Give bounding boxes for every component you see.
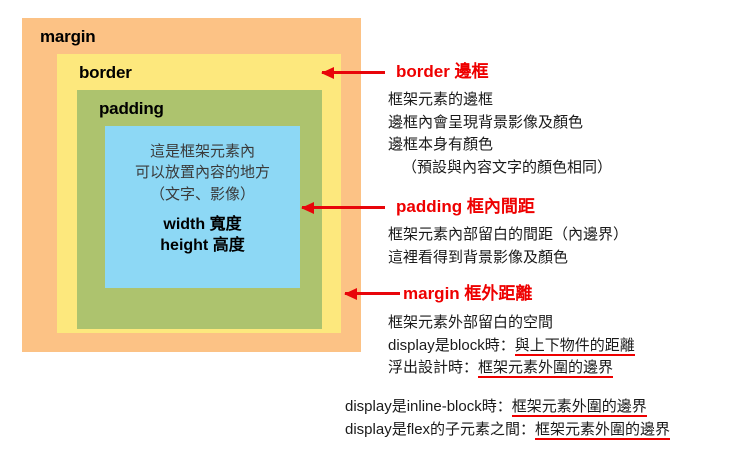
annotation-margin-line-3-prefix: 浮出設計時：: [388, 359, 478, 376]
arrow-left-icon-padding: [302, 206, 385, 209]
annotation-extra-line-1: display是inline-block時：框架元素外圍的邊界: [345, 396, 670, 419]
annotation-border-line-3: 邊框本身有顏色: [388, 134, 612, 157]
content-width-label: width 寬度: [105, 214, 300, 236]
annotation-extra-line-2-emphasis: 框架元素外圍的邊界: [535, 421, 670, 440]
box-model-diagram: margin border padding 這是框架元素內 可以放置內容的地方 …: [22, 18, 361, 352]
annotation-extra-line-1-prefix: display是inline-block時：: [345, 398, 512, 415]
content-text-line-3: （文字、影像）: [105, 184, 300, 205]
content-dimension-group: width 寬度 height 高度: [105, 214, 300, 257]
annotation-margin-line-3: 浮出設計時：框架元素外圍的邊界: [388, 357, 635, 380]
annotation-heading-margin: margin 框外距離: [403, 285, 532, 302]
border-box-label: border: [79, 64, 132, 81]
arrow-left-icon-border: [322, 71, 385, 74]
annotation-margin-line-3-emphasis: 框架元素外圍的邊界: [478, 359, 613, 378]
annotation-body-padding: 框架元素內部留白的間距（內邊界） 這裡看得到背景影像及顏色: [388, 224, 628, 269]
annotation-heading-border: border 邊框: [396, 63, 489, 80]
annotation-margin-line-2-emphasis: 與上下物件的距離: [515, 337, 635, 356]
content-text-line-1: 這是框架元素內: [105, 141, 300, 162]
annotation-body-margin: 框架元素外部留白的空間 display是block時：與上下物件的距離 浮出設計…: [388, 312, 635, 380]
annotation-extra-line-2-prefix: display是flex的子元素之間：: [345, 421, 535, 438]
content-height-label: height 高度: [105, 235, 300, 257]
annotation-body-border: 框架元素的邊框 邊框內會呈現背景影像及顏色 邊框本身有顏色 （預設與內容文字的顏…: [388, 89, 612, 179]
annotation-border-line-1: 框架元素的邊框: [388, 89, 612, 112]
annotation-extra-line-2: display是flex的子元素之間：框架元素外圍的邊界: [345, 419, 670, 442]
padding-box-area: padding 這是框架元素內 可以放置內容的地方 （文字、影像） width …: [77, 90, 322, 329]
annotation-margin-line-1: 框架元素外部留白的空間: [388, 312, 635, 335]
annotation-padding-line-1: 框架元素內部留白的間距（內邊界）: [388, 224, 628, 247]
content-box-area: 這是框架元素內 可以放置內容的地方 （文字、影像） width 寬度 heigh…: [105, 126, 300, 288]
annotation-border-line-2: 邊框內會呈現背景影像及顏色: [388, 112, 612, 135]
margin-box-label: margin: [40, 28, 95, 45]
arrow-left-icon-margin: [345, 292, 400, 295]
content-text-line-2: 可以放置內容的地方: [105, 162, 300, 183]
border-box-area: border padding 這是框架元素內 可以放置內容的地方 （文字、影像）…: [57, 54, 341, 333]
annotation-heading-padding: padding 框內間距: [396, 198, 535, 215]
annotation-extra-line-1-emphasis: 框架元素外圍的邊界: [512, 398, 647, 417]
padding-box-label: padding: [99, 100, 164, 117]
annotation-body-extra: display是inline-block時：框架元素外圍的邊界 display是…: [345, 396, 670, 441]
annotation-padding-line-2: 這裡看得到背景影像及顏色: [388, 247, 628, 270]
annotation-border-line-4: （預設與內容文字的顏色相同）: [388, 157, 612, 180]
annotation-margin-line-2: display是block時：與上下物件的距離: [388, 335, 635, 358]
annotation-margin-line-2-prefix: display是block時：: [388, 337, 515, 354]
